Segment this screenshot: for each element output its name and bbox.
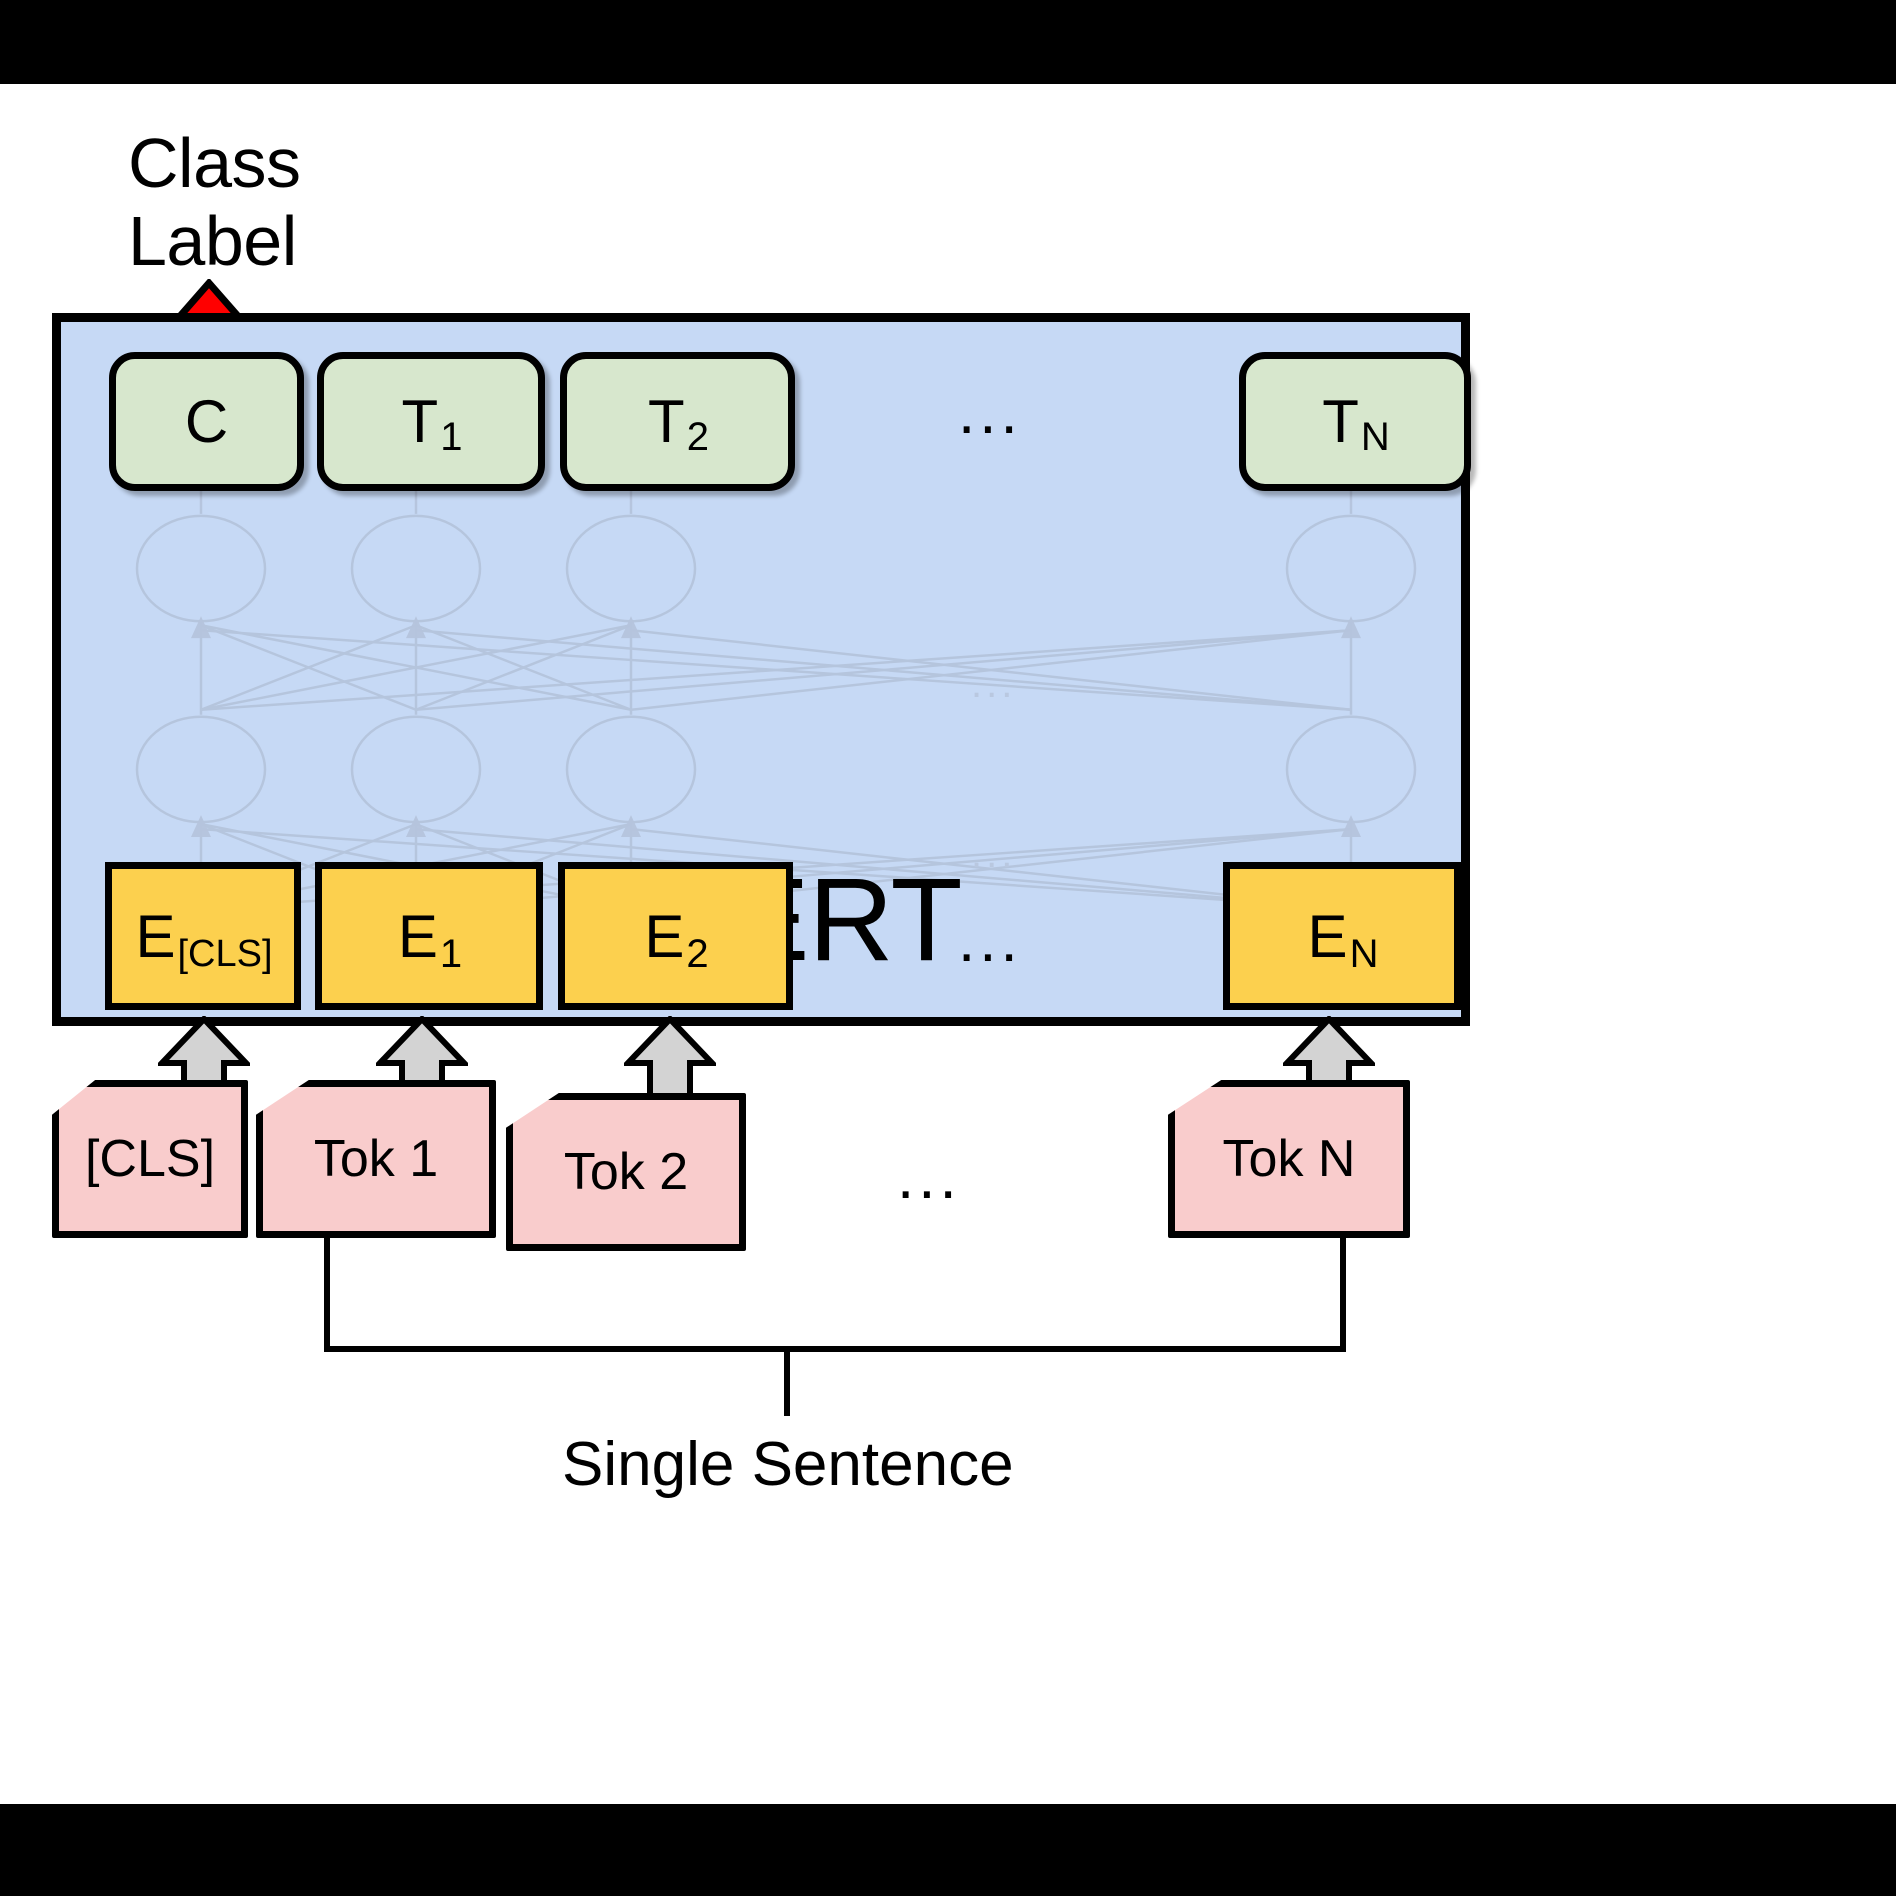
- token-cell-tok2[interactable]: Tok 2: [506, 1093, 746, 1251]
- network-ellipsis-upper: ...: [971, 664, 1016, 704]
- bert-encoder-box: BERT C T1 T2 TN ... ... ... E[CLS]: [52, 313, 1470, 1026]
- output-cell-tn[interactable]: TN: [1239, 352, 1471, 491]
- embedding-cell-e2-sub: 2: [686, 932, 708, 977]
- embedding-cell-e1[interactable]: E1: [315, 862, 543, 1010]
- output-cell-c-label: C: [185, 387, 228, 456]
- embedding-row-ellipsis: ...: [958, 910, 1022, 972]
- output-cell-t2[interactable]: T2: [560, 352, 795, 491]
- token-cell-tokn[interactable]: Tok N: [1168, 1080, 1410, 1238]
- token-cell-cls-label: [CLS]: [85, 1129, 215, 1189]
- network-ellipsis-lower: ...: [971, 834, 1016, 874]
- embedding-cell-en[interactable]: EN: [1223, 862, 1461, 1010]
- embedding-cell-en-label: E: [1308, 902, 1348, 971]
- embedding-cell-e1-label: E: [398, 902, 438, 971]
- output-cell-t2-label: T: [648, 387, 685, 456]
- token-cell-cls[interactable]: [CLS]: [52, 1080, 248, 1238]
- embedding-cell-e2-label: E: [644, 902, 684, 971]
- embedding-cell-cls[interactable]: E[CLS]: [105, 862, 301, 1010]
- token-cell-tok1-label: Tok 1: [314, 1129, 438, 1189]
- output-cell-t2-sub: 2: [687, 415, 709, 460]
- embedding-cell-cls-label: E: [135, 902, 175, 971]
- output-row-ellipsis: ...: [958, 382, 1022, 444]
- embedding-cell-cls-sub: [CLS]: [177, 933, 272, 976]
- figure-sheet: Class Label: [0, 84, 1896, 1804]
- token-cell-tokn-label: Tok N: [1223, 1129, 1356, 1189]
- class-label-text: Class Label: [128, 124, 458, 281]
- output-cell-t1-label: T: [402, 387, 439, 456]
- figure-canvas: Class Label: [0, 0, 1896, 1896]
- output-cell-t1-sub: 1: [440, 415, 462, 460]
- embedding-cell-en-sub: N: [1350, 932, 1379, 977]
- output-cell-c[interactable]: C: [109, 352, 304, 491]
- sentence-caption: Single Sentence: [562, 1429, 1014, 1500]
- token-row-ellipsis: ...: [897, 1147, 961, 1209]
- sentence-bracket: [320, 1234, 1350, 1424]
- embedding-cell-e1-sub: 1: [440, 932, 462, 977]
- output-cell-tn-label: T: [1322, 387, 1359, 456]
- token-cell-tok1[interactable]: Tok 1: [256, 1080, 496, 1238]
- embedding-cell-e2[interactable]: E2: [558, 862, 793, 1010]
- input-arrow-tok2-icon: [624, 1016, 716, 1100]
- output-cell-tn-sub: N: [1361, 415, 1390, 460]
- token-cell-tok2-label: Tok 2: [564, 1142, 688, 1202]
- output-cell-t1[interactable]: T1: [317, 352, 545, 491]
